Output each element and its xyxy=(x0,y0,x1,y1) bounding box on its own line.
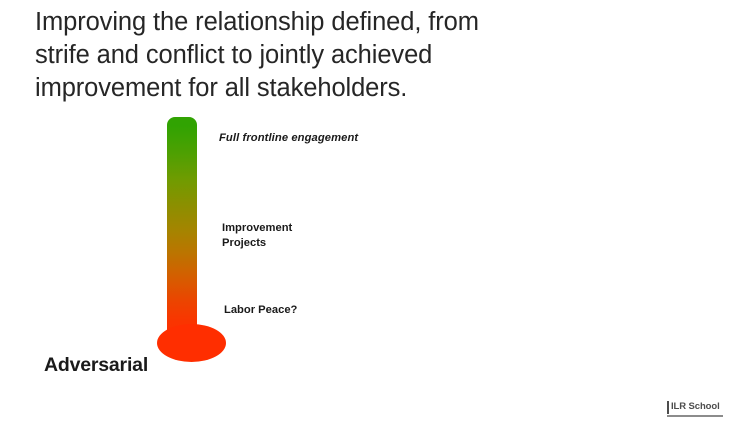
stage-label-full-frontline-engagement: Full frontline engagement xyxy=(219,131,358,146)
ilr-school-logo: ILR School xyxy=(667,401,727,419)
thermometer-graphic xyxy=(157,115,229,365)
thermometer-stem xyxy=(167,117,197,345)
stage-label-improvement-projects: Improvement Projects xyxy=(222,221,292,251)
thermometer-bulb xyxy=(157,324,226,362)
logo-wordmark: ILR School xyxy=(671,401,720,413)
stage-label-labor-peace: Labor Peace? xyxy=(224,303,297,318)
logo-underline-rule xyxy=(667,415,723,417)
page-title: Improving the relationship defined, from… xyxy=(35,6,625,105)
baseline-label-adversarial: Adversarial xyxy=(44,354,148,377)
slide-canvas: Improving the relationship defined, from… xyxy=(0,0,738,427)
logo-accent-bar xyxy=(667,401,669,414)
